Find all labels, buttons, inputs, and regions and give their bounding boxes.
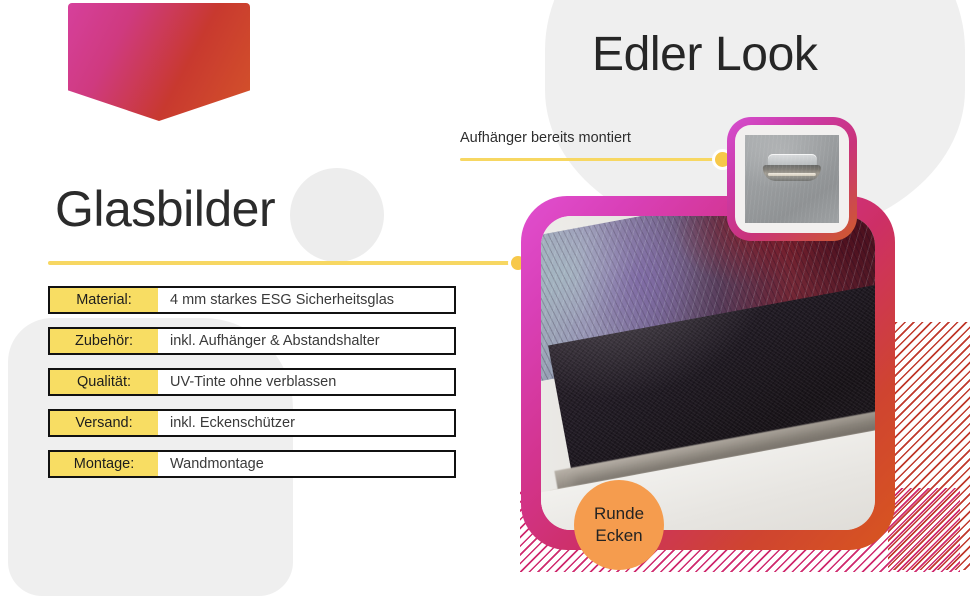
spec-label: Versand: [50,411,158,435]
hanger-bracket-photo [745,135,839,223]
hanger-inset-frame [735,125,849,233]
table-row: Zubehör: inkl. Aufhänger & Abstandshalte… [48,327,456,355]
spec-value: inkl. Aufhänger & Abstandshalter [158,329,454,353]
hanger-bracket-icon [763,154,821,180]
badge-line-1: Runde [594,503,644,525]
table-row: Qualität: UV-Tinte ohne verblassen [48,368,456,396]
divider-line [48,261,520,265]
status-badge: Runde Ecken [574,480,664,570]
glasbild-edge-photo [541,216,875,530]
table-row: Versand: inkl. Eckenschützer [48,409,456,437]
spec-label: Zubehör: [50,329,158,353]
callout-label: Aufhänger bereits montiert [460,130,631,146]
hanger-bracket-slot [768,173,816,175]
hanger-bracket-body [763,165,821,180]
spec-value: 4 mm starkes ESG Sicherheitsglas [158,288,454,312]
spec-value: Wandmontage [158,452,454,476]
poster-canvas: Edler Look Glasbilder Material: 4 mm sta… [0,0,970,600]
table-row: Material: 4 mm starkes ESG Sicherheitsgl… [48,286,456,314]
title-divider [48,258,528,268]
spec-label: Qualität: [50,370,158,394]
badge-line-2: Ecken [595,525,642,547]
page-title: Glasbilder [55,180,275,238]
badge-title: Edler Look [592,27,817,82]
hanger-detail-inset [727,117,857,241]
spec-label: Material: [50,288,158,312]
callout: Aufhänger bereits montiert [460,130,735,170]
hanger-bracket-top [768,154,817,168]
spec-value: inkl. Eckenschützer [158,411,454,435]
table-row: Montage: Wandmontage [48,450,456,478]
spec-label: Montage: [50,452,158,476]
spec-table: Material: 4 mm starkes ESG Sicherheitsgl… [48,286,456,491]
decorative-hatch-pattern [888,322,970,570]
product-image-card [521,196,895,550]
spec-value: UV-Tinte ohne verblassen [158,370,454,394]
shield-banner-icon [68,3,250,121]
photo-light-glow [541,216,875,530]
decorative-circle [290,168,384,262]
callout-line [460,158,722,161]
